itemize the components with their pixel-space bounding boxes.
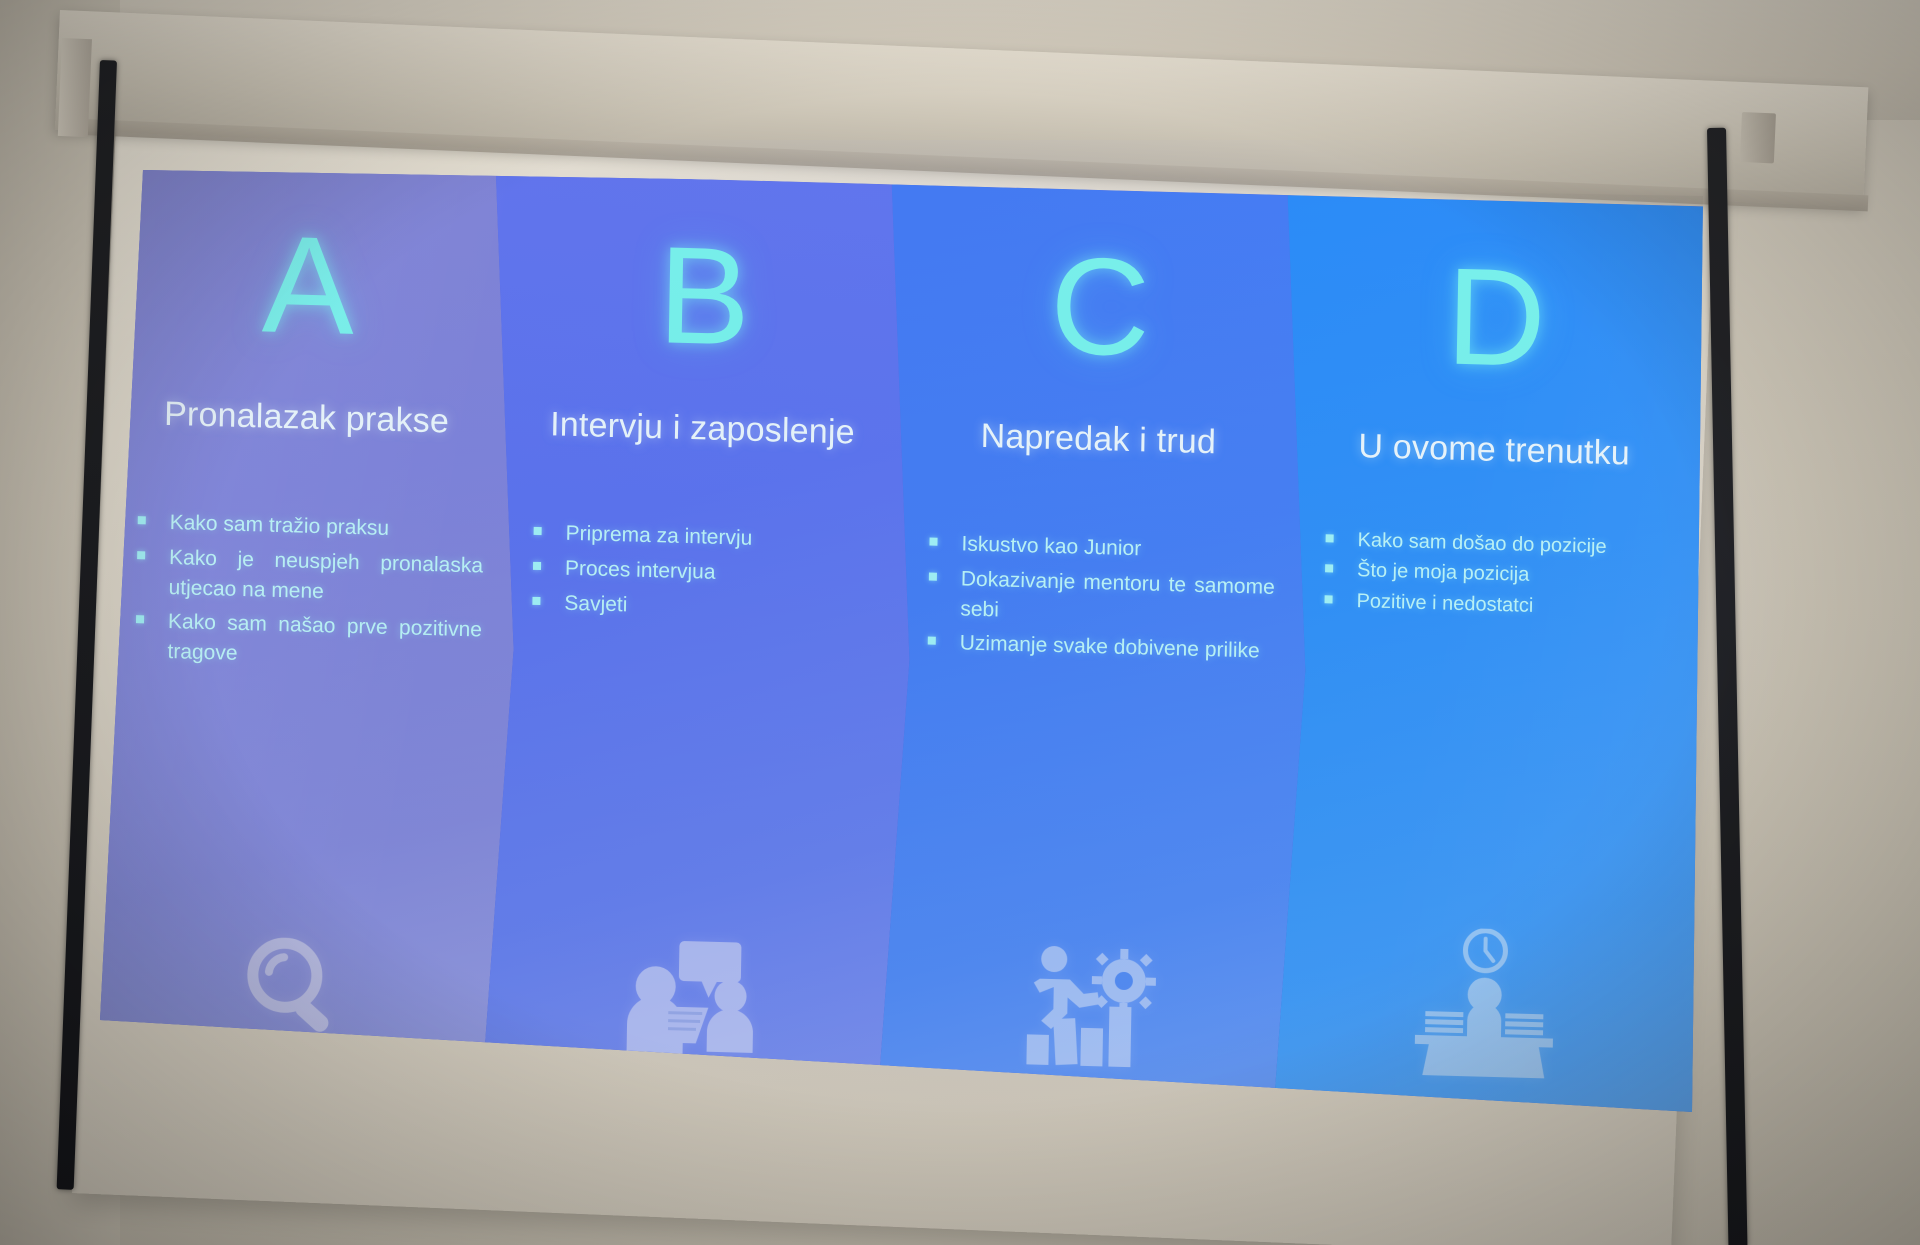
roller-end-cap-left [58, 38, 92, 137]
projection-screen-fabric [72, 74, 1717, 1245]
room-scene: A Pronalazak prakse Kako sam tražio prak… [0, 0, 1920, 1245]
roller-end-cap-right [1740, 112, 1776, 163]
